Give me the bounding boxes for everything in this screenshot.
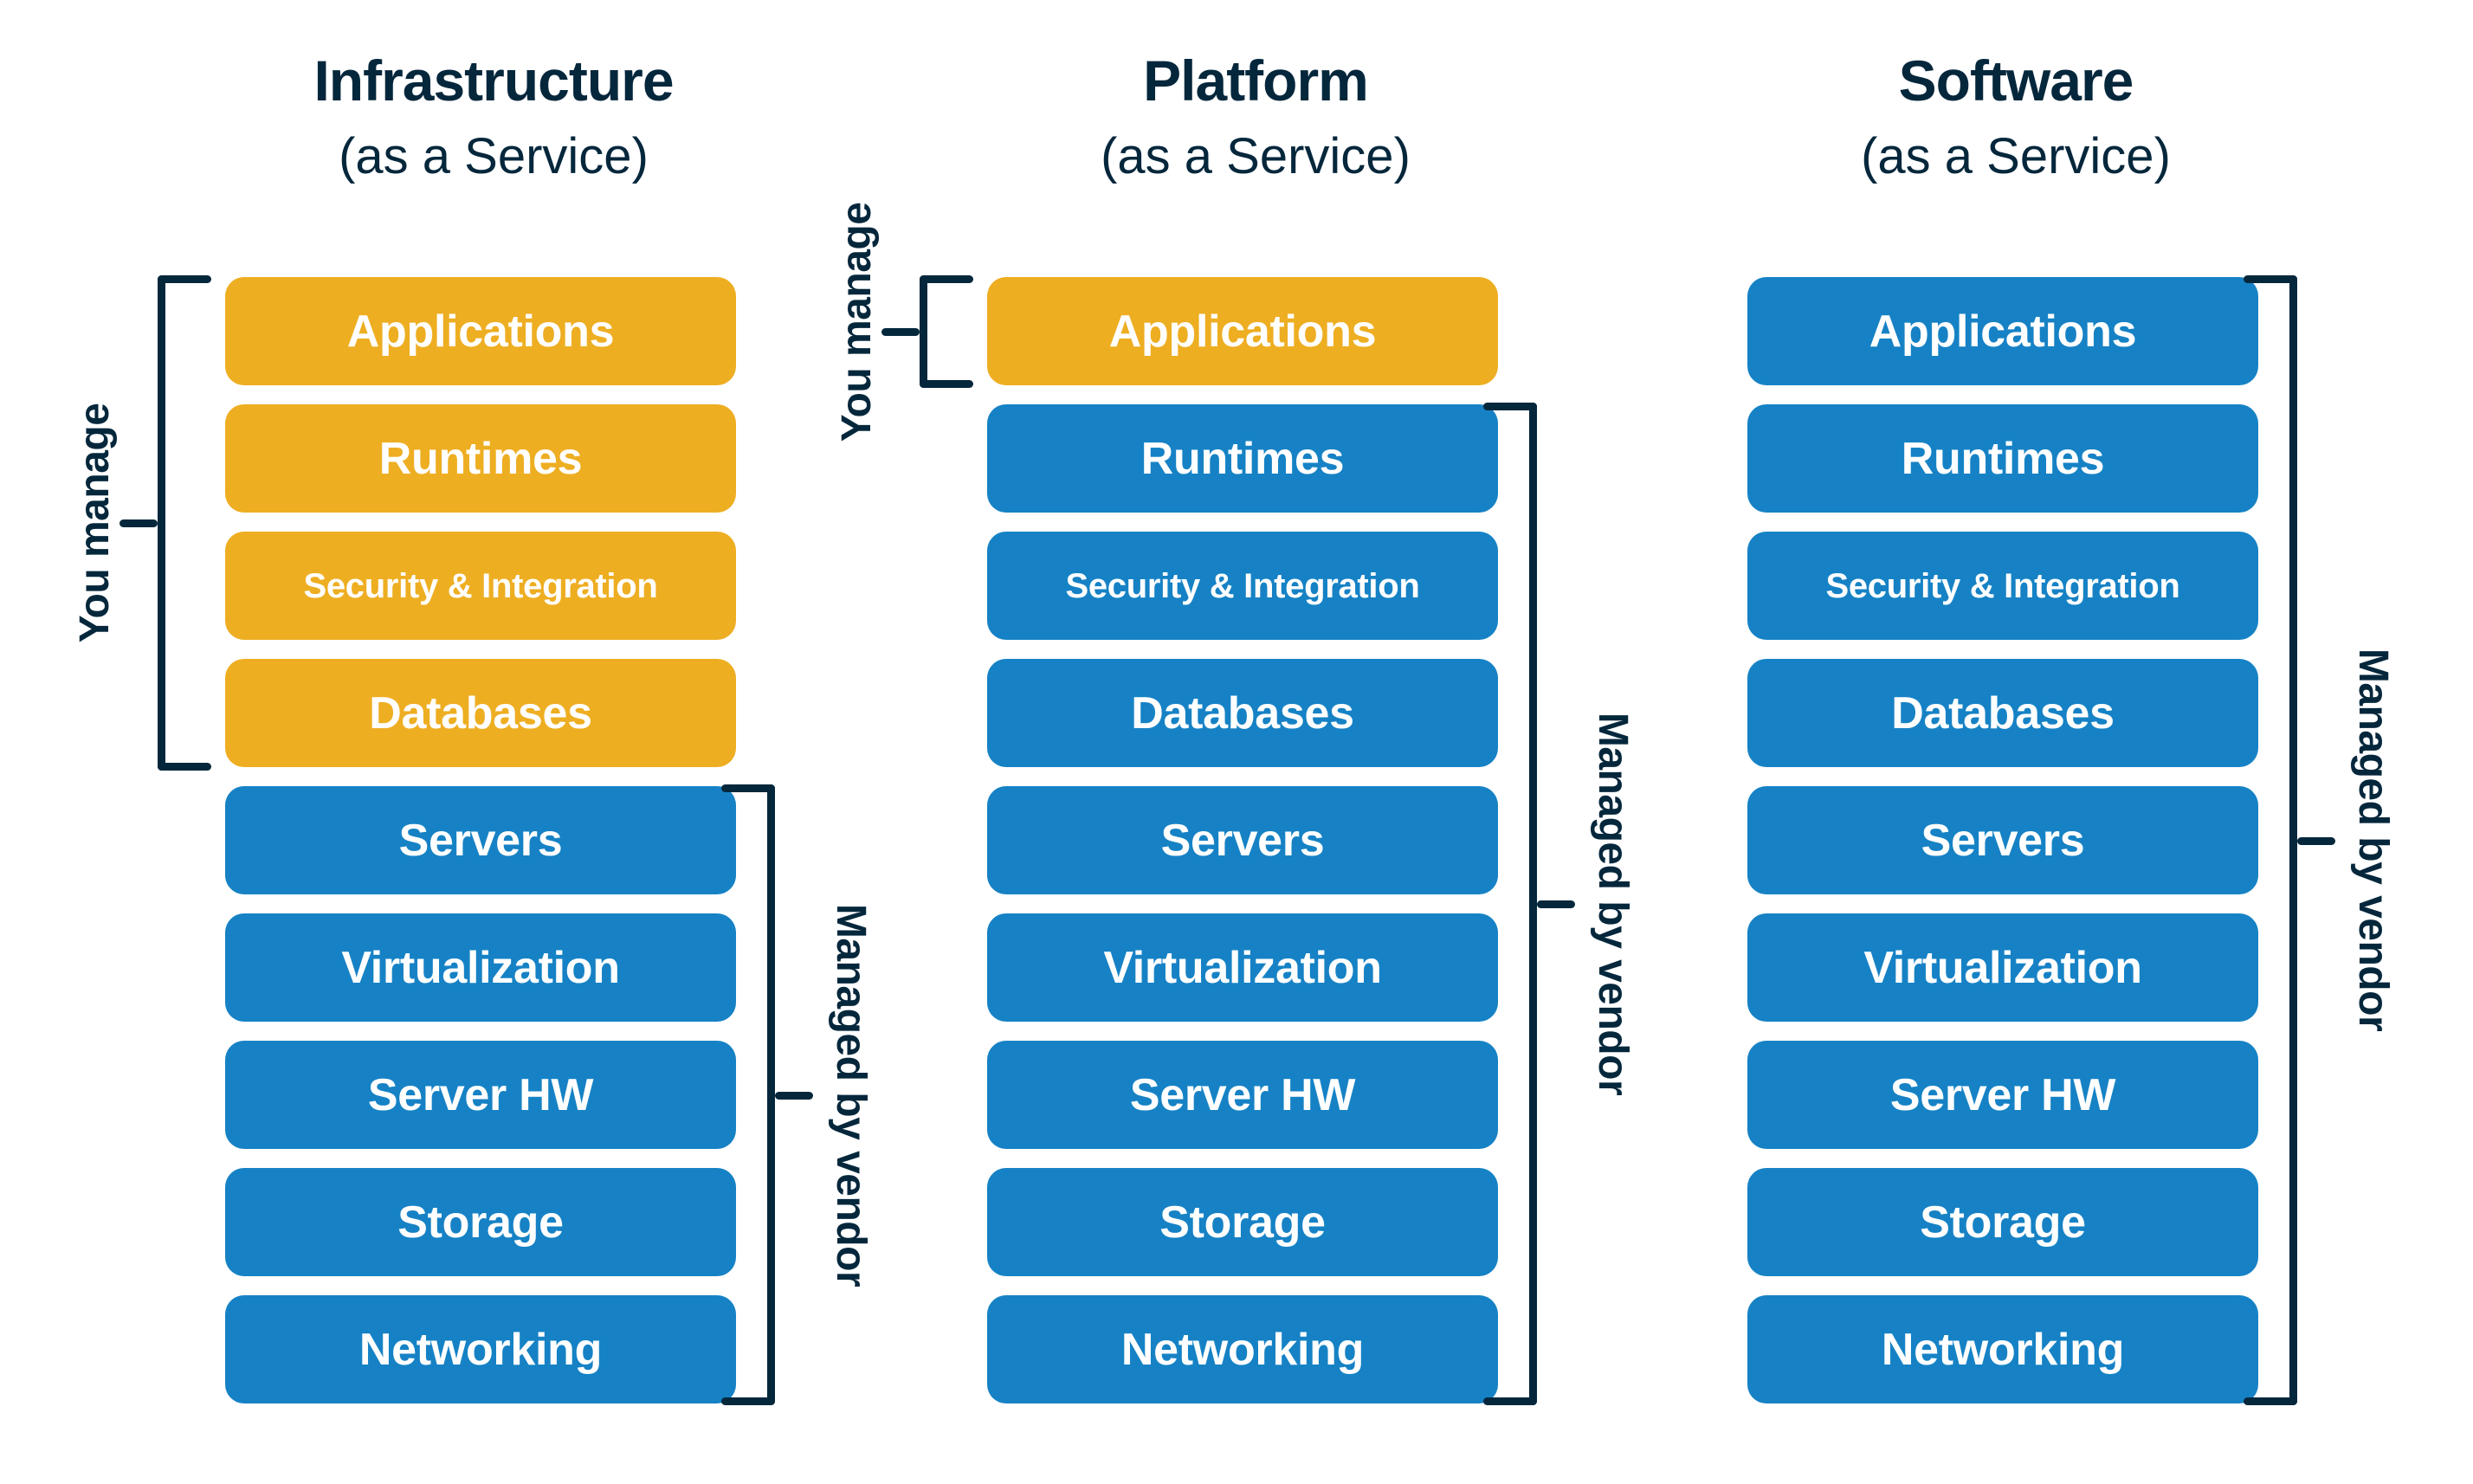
side-label-iaas-managed-by-vendor: Managed by vendor xyxy=(830,904,871,1287)
bracket-arm-top xyxy=(158,275,211,283)
bracket-arm-top xyxy=(2244,275,2297,283)
layer-box-saas-networking[interactable]: Networking xyxy=(1747,1295,2258,1403)
layer-box-saas-runtimes[interactable]: Runtimes xyxy=(1747,404,2258,513)
layer-box-paas-runtimes[interactable]: Runtimes xyxy=(987,404,1498,513)
column-subtitle-paas: (as a Service) xyxy=(987,132,1524,182)
layer-box-saas-databases[interactable]: Databases xyxy=(1747,659,2258,767)
bracket-spine xyxy=(1529,403,1537,1405)
layer-box-saas-security-integration[interactable]: Security & Integration xyxy=(1747,532,2258,640)
bracket-tick xyxy=(1537,900,1575,908)
bracket-iaas-you-manage xyxy=(158,275,165,771)
layer-box-saas-servers[interactable]: Servers xyxy=(1747,786,2258,894)
layer-box-iaas-servers[interactable]: Servers xyxy=(225,786,736,894)
bracket-iaas-managed-by-vendor xyxy=(767,784,775,1405)
layer-box-iaas-databases[interactable]: Databases xyxy=(225,659,736,767)
layer-box-paas-servers[interactable]: Servers xyxy=(987,786,1498,894)
bracket-arm-top xyxy=(1483,403,1537,410)
layer-box-paas-server-hw[interactable]: Server HW xyxy=(987,1041,1498,1149)
column-title-saas: Software xyxy=(1747,52,2284,109)
bracket-spine xyxy=(767,784,775,1405)
column-subtitle-saas: (as a Service) xyxy=(1747,132,2284,182)
layer-box-saas-storage[interactable]: Storage xyxy=(1747,1168,2258,1276)
bracket-paas-managed-by-vendor xyxy=(1529,403,1537,1405)
bracket-tick xyxy=(119,519,158,527)
bracket-arm-top xyxy=(721,784,775,792)
layer-box-iaas-networking[interactable]: Networking xyxy=(225,1295,736,1403)
layer-box-iaas-security-integration[interactable]: Security & Integration xyxy=(225,532,736,640)
column-subtitle-iaas: (as a Service) xyxy=(225,132,762,182)
layer-box-iaas-runtimes[interactable]: Runtimes xyxy=(225,404,736,513)
bracket-arm-bottom xyxy=(158,763,211,771)
layer-box-iaas-virtualization[interactable]: Virtualization xyxy=(225,913,736,1022)
side-label-paas-you-manage: You manage xyxy=(836,203,878,442)
layer-box-paas-virtualization[interactable]: Virtualization xyxy=(987,913,1498,1022)
bracket-arm-bottom xyxy=(920,380,973,388)
bracket-arm-bottom xyxy=(1483,1397,1537,1405)
layer-box-paas-security-integration[interactable]: Security & Integration xyxy=(987,532,1498,640)
layer-box-paas-databases[interactable]: Databases xyxy=(987,659,1498,767)
bracket-spine xyxy=(920,275,927,388)
bracket-tick xyxy=(2297,837,2335,845)
layer-box-saas-server-hw[interactable]: Server HW xyxy=(1747,1041,2258,1149)
bracket-paas-you-manage xyxy=(920,275,927,388)
bracket-spine xyxy=(158,275,165,771)
layer-box-saas-virtualization[interactable]: Virtualization xyxy=(1747,913,2258,1022)
layer-box-iaas-storage[interactable]: Storage xyxy=(225,1168,736,1276)
side-label-saas-managed-by-vendor: Managed by vendor xyxy=(2352,648,2393,1031)
side-label-iaas-you-manage: You manage xyxy=(74,403,116,643)
bracket-spine xyxy=(2289,275,2297,1405)
column-header-iaas: Infrastructure (as a Service) xyxy=(225,52,762,182)
bracket-arm-bottom xyxy=(2244,1397,2297,1405)
bracket-tick xyxy=(775,1092,813,1100)
layer-box-paas-storage[interactable]: Storage xyxy=(987,1168,1498,1276)
bracket-saas-managed-by-vendor xyxy=(2289,275,2297,1405)
bracket-tick xyxy=(881,328,920,336)
layer-box-paas-networking[interactable]: Networking xyxy=(987,1295,1498,1403)
layer-box-paas-applications[interactable]: Applications xyxy=(987,277,1498,385)
bracket-arm-bottom xyxy=(721,1397,775,1405)
layer-box-iaas-server-hw[interactable]: Server HW xyxy=(225,1041,736,1149)
side-label-paas-managed-by-vendor: Managed by vendor xyxy=(1592,713,1633,1095)
column-title-iaas: Infrastructure xyxy=(225,52,762,109)
column-header-saas: Software (as a Service) xyxy=(1747,52,2284,182)
layer-box-saas-applications[interactable]: Applications xyxy=(1747,277,2258,385)
column-header-paas: Platform (as a Service) xyxy=(987,52,1524,182)
column-title-paas: Platform xyxy=(987,52,1524,109)
saas-paas-iaas-diagram: Infrastructure (as a Service) Applicatio… xyxy=(0,0,2473,1484)
bracket-arm-top xyxy=(920,275,973,283)
layer-box-iaas-applications[interactable]: Applications xyxy=(225,277,736,385)
